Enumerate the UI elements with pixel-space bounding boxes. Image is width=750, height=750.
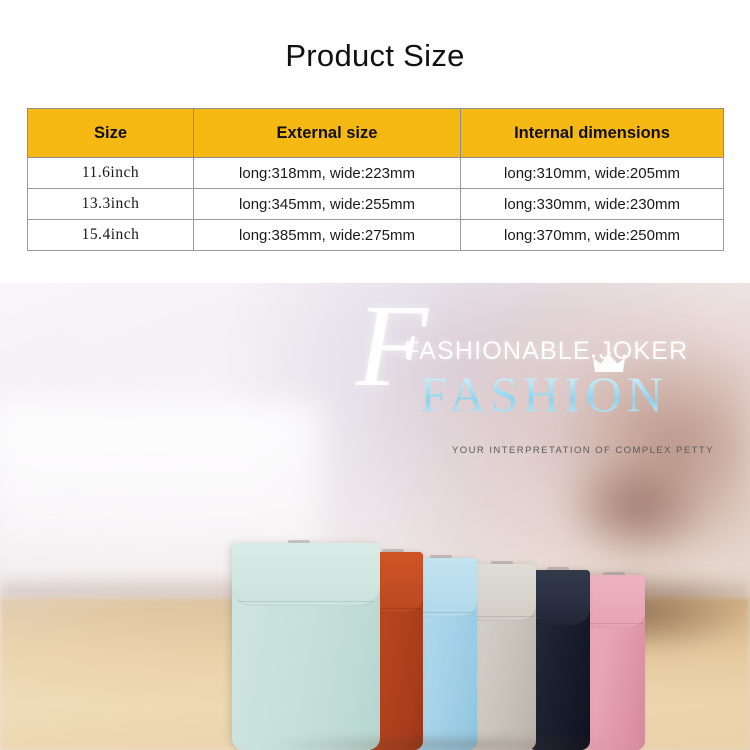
table-body: 11.6inch long:318mm, wide:223mm long:310… bbox=[28, 158, 724, 251]
gray-sleeve-flap bbox=[468, 564, 536, 621]
column-header-internal: Internal dimensions bbox=[461, 109, 724, 158]
table-header: Size External size Internal dimensions bbox=[28, 109, 724, 158]
pink-sleeve bbox=[583, 575, 645, 750]
column-header-size: Size bbox=[28, 109, 194, 158]
cell-internal: long:310mm, wide:205mm bbox=[461, 158, 724, 189]
navy-sleeve-flap bbox=[527, 570, 590, 625]
mint-green-sleeve bbox=[232, 543, 380, 750]
cell-external: long:345mm, wide:255mm bbox=[194, 189, 461, 220]
brand-name-line1: FASHIONABLE JOKER bbox=[404, 337, 688, 366]
brand-lockup: F FASHIONABLE JOKER FASHION YOUR INTERPR… bbox=[0, 283, 750, 483]
brand-tagline: YOUR INTERPRETATION OF COMPLEX PETTY bbox=[452, 445, 714, 456]
navy-black-sleeve bbox=[527, 570, 590, 750]
table-row: 13.3inch long:345mm, wide:255mm long:330… bbox=[28, 189, 724, 220]
brand-name-line2: FASHION bbox=[420, 366, 690, 422]
cell-size: 11.6inch bbox=[28, 158, 194, 189]
gray-sleeve-seam bbox=[471, 616, 534, 617]
column-header-external: External size bbox=[194, 109, 461, 158]
product-size-page: Product Size Size External size Internal… bbox=[0, 0, 750, 750]
product-size-table: Size External size Internal dimensions 1… bbox=[27, 108, 724, 251]
page-title: Product Size bbox=[0, 38, 750, 74]
product-photo: F FASHIONABLE JOKER FASHION YOUR INTERPR… bbox=[0, 283, 750, 750]
navy-sleeve-seam bbox=[530, 620, 588, 621]
crown-icon bbox=[592, 352, 626, 374]
pink-sleeve-seam bbox=[585, 623, 642, 624]
table-row: 11.6inch long:318mm, wide:223mm long:310… bbox=[28, 158, 724, 189]
sleeve-group-shadow bbox=[222, 734, 662, 750]
mint-sleeve-flap bbox=[232, 543, 380, 606]
gray-sleeve bbox=[468, 564, 536, 750]
cell-internal: long:330mm, wide:230mm bbox=[461, 189, 724, 220]
cell-size: 13.3inch bbox=[28, 189, 194, 220]
cell-size: 15.4inch bbox=[28, 220, 194, 251]
cell-internal: long:370mm, wide:250mm bbox=[461, 220, 724, 251]
table-header-row: Size External size Internal dimensions bbox=[28, 109, 724, 158]
table-row: 15.4inch long:385mm, wide:275mm long:370… bbox=[28, 220, 724, 251]
cell-external: long:385mm, wide:275mm bbox=[194, 220, 461, 251]
pink-sleeve-flap bbox=[583, 575, 645, 628]
spec-section: Product Size Size External size Internal… bbox=[0, 0, 750, 283]
brand-name-line2-wrap: FASHION bbox=[420, 366, 690, 422]
laptop-sleeve-group bbox=[0, 490, 750, 750]
mint-sleeve-seam bbox=[238, 601, 374, 602]
cell-external: long:318mm, wide:223mm bbox=[194, 158, 461, 189]
